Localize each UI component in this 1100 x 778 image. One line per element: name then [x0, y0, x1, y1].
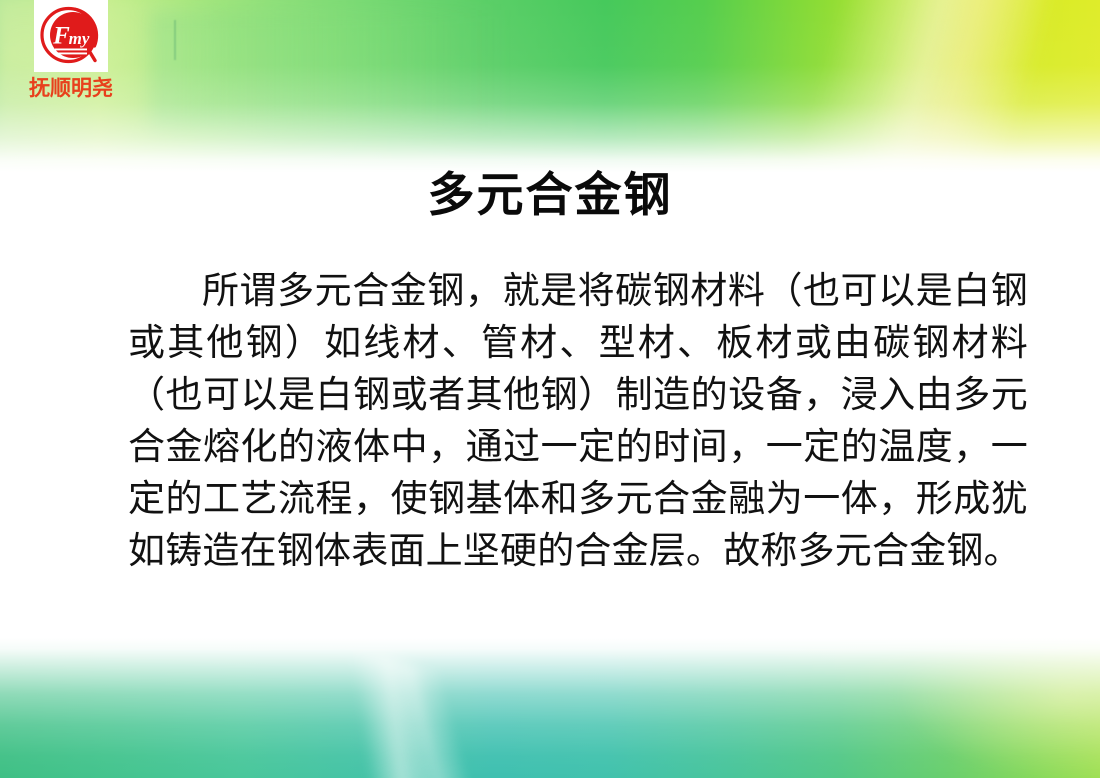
slide-body-text: 所谓多元合金钢，就是将碳钢材料（也可以是白钢或其他钢）如线材、管材、型材、板材或…	[128, 265, 1028, 577]
svg-text:my: my	[69, 29, 90, 48]
brand-name-label: 抚顺明尧	[13, 78, 129, 99]
svg-text:F: F	[52, 23, 70, 50]
bottom-decorative-band	[0, 638, 1100, 778]
top-decorative-band	[0, 0, 1100, 172]
bottom-band-fade-to-white	[0, 638, 1100, 778]
fmy-circle-logo-icon: F my	[34, 0, 108, 72]
top-band-fade-to-white	[0, 0, 1100, 172]
slide-title: 多元合金钢	[0, 170, 1100, 219]
slide: F my 抚顺明尧 多元合金钢 所谓多元合金钢，就是将碳钢材料（也可以是白钢或其…	[0, 0, 1100, 778]
brand-logo[interactable]: F my 抚顺明尧	[34, 0, 110, 99]
